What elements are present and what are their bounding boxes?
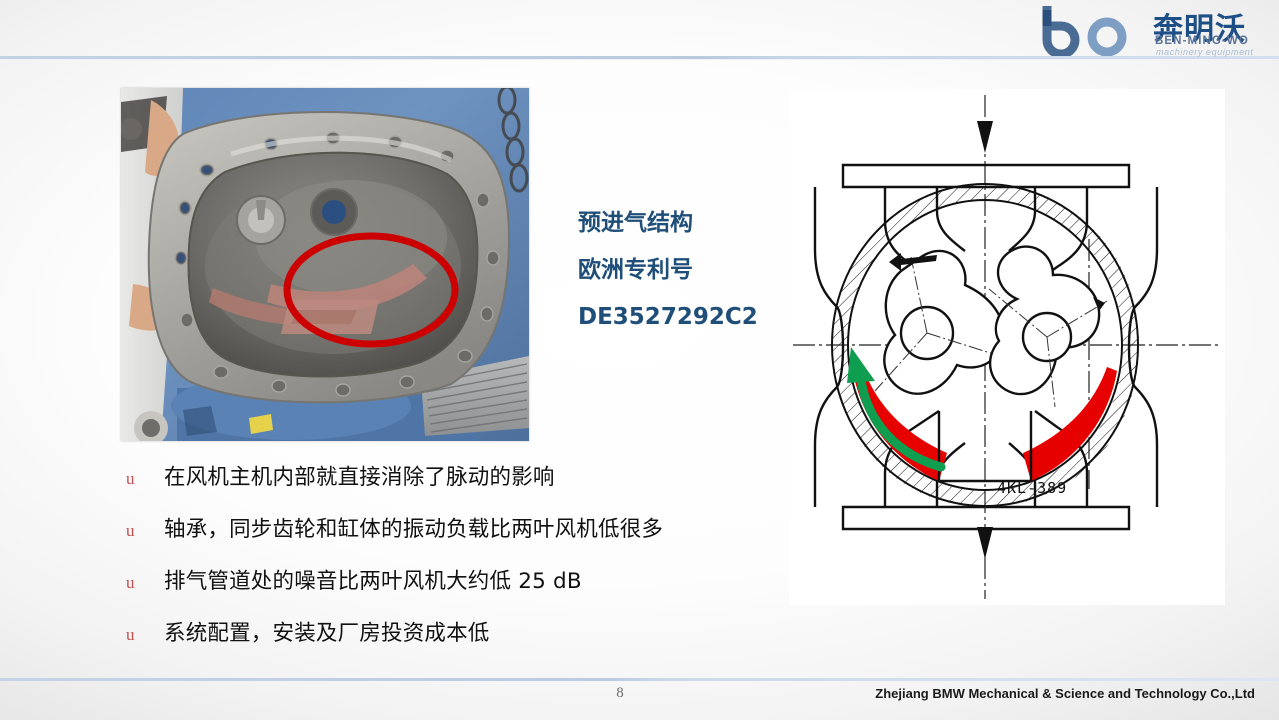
blower-housing-photo xyxy=(121,88,529,441)
bullet-marker-icon: u xyxy=(122,469,164,489)
slide-footer: 8 Zhejiang BMW Mechanical & Science and … xyxy=(0,676,1279,720)
slide: 奔明沃 BEN-MING-WO machinery equipment xyxy=(0,0,1279,720)
bullet-marker-icon: u xyxy=(122,573,164,593)
list-item: u 在风机主机内部就直接消除了脉动的影响 xyxy=(122,460,762,512)
footer-divider xyxy=(0,678,1279,681)
bullet-marker-icon: u xyxy=(122,625,164,645)
page-number: 8 xyxy=(600,685,640,702)
tri-lobe-blower-cross-section: 4KL-389 xyxy=(789,89,1225,605)
outlet-arrow-down xyxy=(977,527,993,559)
bullet-text: 系统配置，安装及厂房投资成本低 xyxy=(164,616,490,647)
list-item: u 系统配置，安装及厂房投资成本低 xyxy=(122,616,762,668)
logo-english-name: BEN-MING-WO xyxy=(1155,35,1249,47)
inlet-arrow-down xyxy=(977,121,993,153)
rotation-arrow-head xyxy=(847,347,875,383)
logo-tagline: machinery equipment xyxy=(1156,47,1253,57)
bullet-text: 轴承，同步齿轮和缸体的振动负载比两叶风机低很多 xyxy=(164,512,663,543)
company-logo: 奔明沃 BEN-MING-WO machinery equipment xyxy=(1035,2,1267,60)
part-label: 4KL-389 xyxy=(997,479,1067,497)
bullet-marker-icon: u xyxy=(122,521,164,541)
list-item: u 轴承，同步齿轮和缸体的振动负载比两叶风机低很多 xyxy=(122,512,762,564)
bo-monogram-icon xyxy=(1041,6,1161,56)
footer-company-name: Zhejiang BMW Mechanical & Science and Te… xyxy=(875,686,1255,701)
bullet-text: 排气管道处的噪音比两叶风机大约低 25 dB xyxy=(164,564,582,595)
slide-header: 奔明沃 BEN-MING-WO machinery equipment xyxy=(0,0,1279,62)
bullet-list: u 在风机主机内部就直接消除了脉动的影响 u 轴承，同步齿轮和缸体的振动负载比两… xyxy=(122,460,762,668)
bullet-text: 在风机主机内部就直接消除了脉动的影响 xyxy=(164,460,555,491)
list-item: u 排气管道处的噪音比两叶风机大约低 25 dB xyxy=(122,564,762,616)
